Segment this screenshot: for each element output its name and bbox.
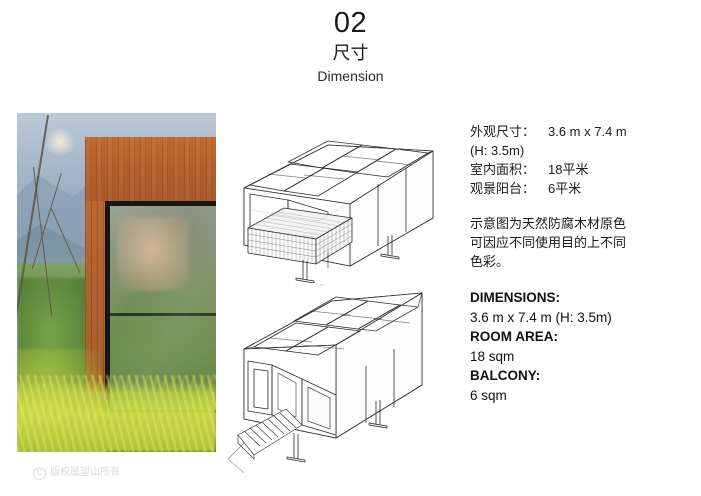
en-room-area-label: ROOM AREA: [470,327,685,347]
spec-label-room-area: 室内面积： [470,160,548,179]
section-title-cn: 尺寸 [0,41,701,65]
isometric-cabin-with-stairs-drawing [224,283,452,473]
en-balcony-label: BALCONY: [470,366,685,386]
specs-en-block: DIMENSIONS: 3.6 m x 7.4 m (H: 3.5m) ROOM… [470,288,685,405]
en-balcony-value: 6 sqm [470,386,685,406]
copyright-icon: C [33,467,46,480]
section-title-en: Dimension [0,66,701,86]
spec-value-dimensions: 3.6 m x 7.4 m [548,122,685,141]
slide-header: 02 尺寸 Dimension [0,6,701,86]
material-note-line-3: 色彩。 [470,252,670,271]
spec-row-room-area: 室内面积： 18平米 [470,160,685,179]
spec-label-dimensions: 外观尺寸： [470,122,548,141]
spec-label-balcony: 观景阳台： [470,179,548,198]
spec-value-balcony: 6平米 [548,179,685,198]
isometric-cabin-with-balcony-drawing [228,118,448,283]
spec-value-room-area: 18平米 [548,160,685,179]
specs-cn-block: 外观尺寸： 3.6 m x 7.4 m (H: 3.5m) 室内面积： 18平米… [470,122,685,198]
photo-wood-cladding-top [85,137,216,201]
copyright-text: 版权属望山所有 [50,466,120,480]
photo-sun-glow [43,129,77,155]
cabin-photo [17,113,216,452]
material-note-cn: 示意图为天然防腐木材原色 可因应不同使用目的上不同 色彩。 [470,214,670,271]
section-number: 02 [0,6,701,40]
en-room-area-value: 18 sqm [470,347,685,367]
spec-height-note: (H: 3.5m) [470,141,685,160]
material-note-line-2: 可因应不同使用目的上不同 [470,233,670,252]
en-dimensions-value: 3.6 m x 7.4 m (H: 3.5m) [470,308,685,328]
copyright-watermark: C 版权属望山所有 [33,466,120,480]
spec-row-dimensions: 外观尺寸： 3.6 m x 7.4 m [470,122,685,141]
en-dimensions-label: DIMENSIONS: [470,288,685,308]
material-note-line-1: 示意图为天然防腐木材原色 [470,214,670,233]
photo-grass-blades [17,375,216,452]
spec-row-balcony: 观景阳台： 6平米 [470,179,685,198]
